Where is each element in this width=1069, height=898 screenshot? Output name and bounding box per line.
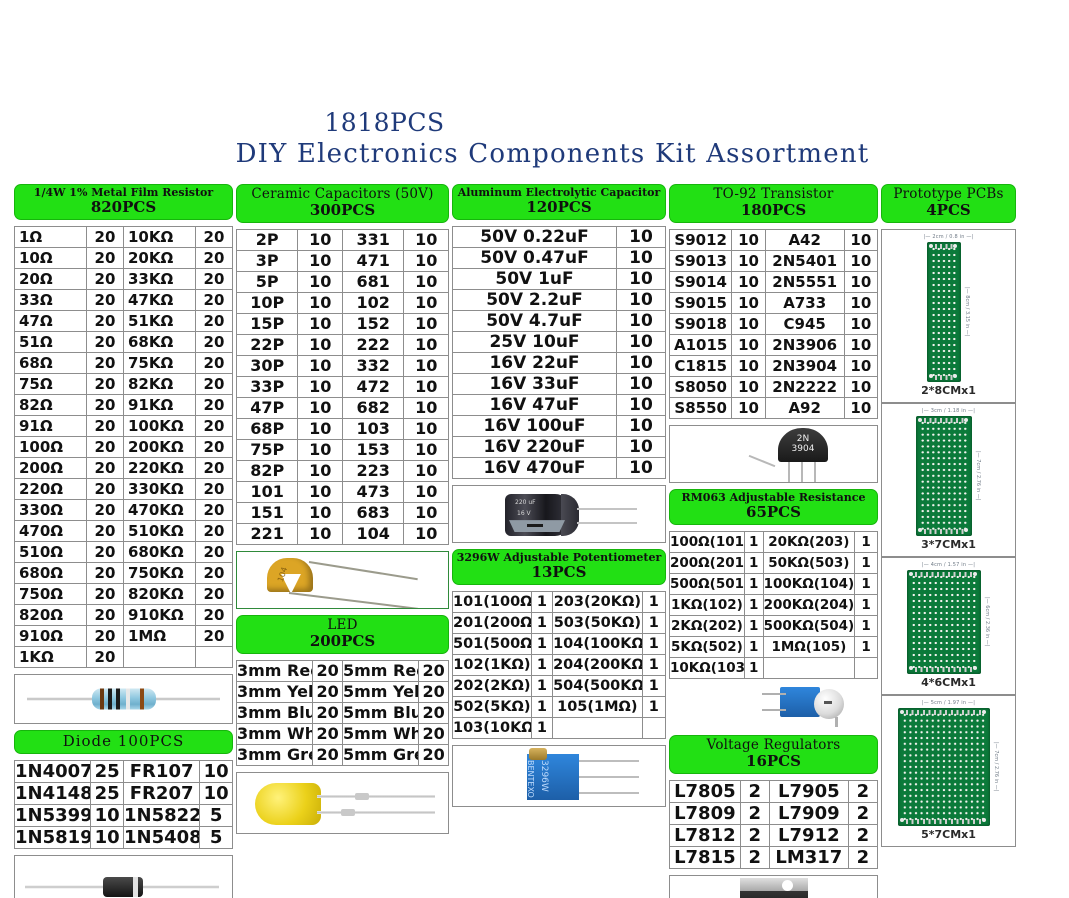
table-cell: 10 (298, 250, 343, 271)
pcb-edge-pads (935, 244, 953, 249)
table-cell: 10 (404, 355, 449, 376)
table-cell: 1 (744, 574, 763, 595)
table-cell: 20 (195, 269, 232, 290)
table-cell: 510KΩ (123, 521, 195, 542)
table-cell: 10 (732, 376, 765, 397)
table-row: 2P1033110 (237, 229, 449, 250)
table-cell: 20 (86, 521, 123, 542)
table-cell: 2 (848, 780, 877, 802)
table-row: S8050102N222210 (670, 376, 878, 397)
table-cell: 100KΩ (123, 416, 195, 437)
table-cell: 20 (86, 269, 123, 290)
table-row: 2KΩ(202)1500KΩ(504)1 (670, 616, 878, 637)
table-cell: 2 (848, 802, 877, 824)
table-cell: 50V 1uF (453, 269, 617, 290)
pcb-edge-pads (915, 667, 973, 672)
table-cell (553, 718, 642, 739)
diode-heading: Diode 100PCS (17, 733, 230, 750)
table-cell: 20 (86, 311, 123, 332)
table-cell: 470KΩ (123, 500, 195, 521)
table-cell: 502(5KΩ) (453, 697, 532, 718)
table-row: 16V 100uF10 (453, 416, 666, 437)
table-row: 501(500Ω)1104(100KΩ)1 (453, 634, 666, 655)
table-row: 1N5399101N58225 (15, 804, 233, 826)
table-cell: 1N5399 (15, 804, 91, 826)
table-row: 3mm White205mm White20 (237, 723, 449, 744)
table-row: 3mm Yellow205mm Yellow20 (237, 681, 449, 702)
transistor-table: S901210A4210S9013102N540110S9014102N5551… (669, 229, 878, 419)
table-cell: 20 (419, 744, 449, 765)
pcb-mounting-hole (918, 418, 922, 422)
table-cell: 2N3904 (765, 355, 844, 376)
table-cell: 50V 2.2uF (453, 290, 617, 311)
table-cell: 3mm White (237, 723, 313, 744)
table-cell: 5mm Blue (342, 702, 418, 723)
transistor-table-body: S901210A4210S9013102N540110S9014102N5551… (670, 229, 878, 418)
table-cell: 750KΩ (123, 563, 195, 584)
table-cell: 1 (531, 613, 552, 634)
table-cell: 330KΩ (123, 479, 195, 500)
table-cell: 1 (744, 595, 763, 616)
table-cell: 20 (86, 500, 123, 521)
table-cell: 20 (313, 702, 343, 723)
led-count: 200PCS (239, 633, 446, 650)
pcb-edge-pads (924, 529, 964, 534)
pcb-mounting-hole (953, 374, 957, 378)
table-cell: 103(10KΩ) (453, 718, 532, 739)
table-row: 68Ω2075KΩ20 (15, 353, 233, 374)
table-cell: 151 (237, 502, 298, 523)
pcb-height-dimension: |— 7cm / 2.76 in —| (975, 451, 981, 501)
table-cell: 10 (732, 313, 765, 334)
table-row: 1KΩ(102)1200KΩ(204)1 (670, 595, 878, 616)
table-cell: 1 (642, 676, 665, 697)
table-row: 101(100Ω)1203(20KΩ)1 (453, 592, 666, 613)
pcb-mounting-hole (973, 572, 977, 576)
table-cell: 5KΩ(502) (670, 637, 745, 658)
table-cell: S8550 (670, 397, 732, 418)
table-cell: 10 (617, 290, 666, 311)
table-cell: 10 (617, 269, 666, 290)
table-cell: 82KΩ (123, 374, 195, 395)
pcb-edge-pads (906, 819, 982, 824)
table-cell: 103 (342, 418, 403, 439)
table-cell: 10 (298, 271, 343, 292)
sections-grid: 1/4W 1% Metal Film Resistor 820PCS 1Ω201… (14, 184, 1056, 898)
table-cell: 1 (855, 637, 878, 658)
table-cell: 2 (740, 846, 769, 868)
led-photo (236, 772, 449, 834)
table-cell: 75P (237, 439, 298, 460)
pcb-mounting-hole (964, 528, 968, 532)
table-cell: 20 (86, 290, 123, 311)
pcb-board (916, 416, 972, 536)
table-cell: 33KΩ (123, 269, 195, 290)
table-cell: 10 (298, 460, 343, 481)
table-cell: 201(200Ω) (453, 613, 532, 634)
table-row: 5KΩ(502)11MΩ(105)1 (670, 637, 878, 658)
table-cell: 1MΩ(105) (763, 637, 855, 658)
table-cell: 20 (313, 744, 343, 765)
table-cell: 20 (86, 353, 123, 374)
table-cell: 1 (744, 637, 763, 658)
section-header-potentiometer: 3296W Adjustable Potentiometer 13PCS (452, 549, 666, 585)
table-cell: 10P (237, 292, 298, 313)
pcb-board-item: |— 4cm / 1.57 in —||— 6cm / 2.36 in —|4*… (881, 557, 1016, 695)
table-cell: 10 (404, 376, 449, 397)
table-cell: 10KΩ (123, 227, 195, 248)
table-cell: 10 (617, 416, 666, 437)
table-cell: S9018 (670, 313, 732, 334)
transistor-count: 180PCS (672, 202, 875, 219)
pcb-mounting-hole (909, 572, 913, 576)
table-cell: 10 (298, 397, 343, 418)
table-row: 16V 470uF10 (453, 458, 666, 479)
table-cell: 200KΩ (123, 437, 195, 458)
table-row: 47Ω2051KΩ20 (15, 311, 233, 332)
table-row: S9013102N540110 (670, 250, 878, 271)
table-cell (123, 647, 195, 668)
table-cell: 5mm Yellow (342, 681, 418, 702)
table-cell: 470Ω (15, 521, 87, 542)
table-cell: 3mm Green (237, 744, 313, 765)
table-cell: 30P (237, 355, 298, 376)
table-row: 1N400725FR10710 (15, 760, 233, 782)
table-cell: 681 (342, 271, 403, 292)
table-row: 680Ω20750KΩ20 (15, 563, 233, 584)
table-cell: A1015 (670, 334, 732, 355)
section-header-transistor: TO-92 Transistor 180PCS (669, 184, 878, 223)
section-header-ceramic: Ceramic Capacitors (50V) 300PCS (236, 184, 449, 223)
table-row: 10KΩ(103)1 (670, 658, 878, 679)
table-row: 910Ω201MΩ20 (15, 626, 233, 647)
table-cell: 20Ω (15, 269, 87, 290)
table-cell: 1MΩ (123, 626, 195, 647)
table-cell: 20 (86, 542, 123, 563)
table-row: 3mm Blue205mm Blue20 (237, 702, 449, 723)
table-cell: 15P (237, 313, 298, 334)
table-cell: 501(500Ω) (453, 634, 532, 655)
section-header-pcb: Prototype PCBs 4PCS (881, 184, 1016, 223)
table-cell: 10 (91, 826, 124, 848)
table-row: A1015102N390610 (670, 334, 878, 355)
table-cell: 10 (404, 418, 449, 439)
table-cell: 10 (404, 250, 449, 271)
table-cell: 91KΩ (123, 395, 195, 416)
table-cell: 47P (237, 397, 298, 418)
table-cell: 20 (86, 626, 123, 647)
table-cell: 1N5408 (123, 826, 199, 848)
table-cell: 152 (342, 313, 403, 334)
table-cell: L7809 (670, 802, 741, 824)
table-row: 1N5819101N54085 (15, 826, 233, 848)
table-cell: 20 (86, 248, 123, 269)
pcb-board (898, 708, 990, 826)
table-cell: 1 (531, 655, 552, 676)
table-cell: 10 (404, 229, 449, 250)
regulator-table: L78052L79052L78092L79092L78122L79122L781… (669, 780, 878, 869)
table-cell: 10 (732, 355, 765, 376)
column-ceramic-led: Ceramic Capacitors (50V) 300PCS 2P103311… (236, 184, 449, 834)
table-cell: 1 (642, 613, 665, 634)
table-row: 68P1010310 (237, 418, 449, 439)
table-row: 3mm Green205mm Green20 (237, 744, 449, 765)
table-row: 1KΩ20 (15, 647, 233, 668)
table-cell: 20 (195, 584, 232, 605)
table-cell: 20 (195, 500, 232, 521)
table-cell: S9012 (670, 229, 732, 250)
table-cell: 10Ω (15, 248, 87, 269)
table-cell: 1 (642, 697, 665, 718)
table-cell: 10 (298, 481, 343, 502)
led-table-body: 3mm Red205mm Red203mm Yellow205mm Yellow… (237, 660, 449, 765)
table-cell: 2 (848, 824, 877, 846)
table-cell: 202(2KΩ) (453, 676, 532, 697)
table-cell: A733 (765, 292, 844, 313)
table-cell: 200KΩ(204) (763, 595, 855, 616)
table-cell: 10 (404, 460, 449, 481)
ceramic-table-body: 2P10331103P10471105P106811010P101021015P… (237, 229, 449, 544)
table-cell: 10 (617, 458, 666, 479)
table-cell: S9014 (670, 271, 732, 292)
table-cell: 47KΩ (123, 290, 195, 311)
capacitor-value-text: 220 uF (515, 499, 536, 506)
pcb-mounting-hole (929, 244, 933, 248)
pcb-edge-pads (915, 572, 973, 577)
pcb-mounting-hole (900, 818, 904, 822)
table-row: L78092L79092 (670, 802, 878, 824)
table-cell: 10 (844, 250, 877, 271)
table-cell: 16V 220uF (453, 437, 617, 458)
table-cell: C1815 (670, 355, 732, 376)
rm063-table-body: 100Ω(101)120KΩ(203)1200Ω(201)150KΩ(503)1… (670, 532, 878, 679)
table-cell: 910Ω (15, 626, 87, 647)
aluminum-table: 50V 0.22uF1050V 0.47uF1050V 1uF1050V 2.2… (452, 226, 666, 479)
table-cell: 1 (855, 574, 878, 595)
table-cell: 3mm Red (237, 660, 313, 681)
table-row: 510Ω20680KΩ20 (15, 542, 233, 563)
table-cell: 104 (342, 523, 403, 544)
table-cell: 16V 22uF (453, 353, 617, 374)
table-row: 500Ω(501)1100KΩ(104)1 (670, 574, 878, 595)
table-row: 91Ω20100KΩ20 (15, 416, 233, 437)
table-cell: 10 (404, 397, 449, 418)
table-cell: A42 (765, 229, 844, 250)
pcb-board (927, 242, 961, 382)
table-cell: 1 (855, 595, 878, 616)
pcb-mounting-hole (982, 818, 986, 822)
table-cell: 10 (298, 355, 343, 376)
table-cell: 2N5551 (765, 271, 844, 292)
table-row: 50V 0.47uF10 (453, 248, 666, 269)
table-cell: 1N5822 (123, 804, 199, 826)
table-row: 102(1KΩ)1204(200KΩ)1 (453, 655, 666, 676)
table-cell: 5mm White (342, 723, 418, 744)
table-cell: 20 (195, 605, 232, 626)
table-cell: 10 (91, 804, 124, 826)
to92-transistor-photo: 2N 3904 (669, 425, 878, 483)
table-row: 75P1015310 (237, 439, 449, 460)
table-cell: 221 (237, 523, 298, 544)
table-cell: 220KΩ (123, 458, 195, 479)
resistor-table: 1Ω2010KΩ2010Ω2020KΩ2020Ω2033KΩ2033Ω2047K… (14, 226, 233, 668)
table-cell: 2 (740, 802, 769, 824)
table-cell: 200Ω (15, 458, 87, 479)
pcb-size-label: 3*7CMx1 (921, 538, 976, 551)
table-cell: C945 (765, 313, 844, 334)
table-row: 1Ω2010KΩ20 (15, 227, 233, 248)
table-cell: 820Ω (15, 605, 87, 626)
resistor-body (92, 689, 156, 710)
table-cell (763, 658, 855, 679)
table-cell: 20 (313, 681, 343, 702)
table-cell: 10 (617, 332, 666, 353)
table-cell: 10 (732, 397, 765, 418)
table-cell: 10 (844, 397, 877, 418)
table-cell: 20 (86, 479, 123, 500)
table-cell: 222 (342, 334, 403, 355)
table-cell: 20 (195, 563, 232, 584)
table-cell: 20KΩ (123, 248, 195, 269)
table-cell: 51Ω (15, 332, 87, 353)
table-row: 50V 2.2uF10 (453, 290, 666, 311)
pcb-height-dimension: |— 7cm / 2.76 in —| (993, 742, 999, 792)
table-cell: 820KΩ (123, 584, 195, 605)
pcb-board-item: |— 2cm / 0.8 in —||— 8cm / 3.15 in —|2*8… (881, 229, 1016, 403)
table-cell: 100KΩ(104) (763, 574, 855, 595)
table-cell: 500KΩ(504) (763, 616, 855, 637)
electrolytic-capacitor-photo: 220 uF 16 V (452, 485, 666, 543)
table-cell: 203(20KΩ) (553, 592, 642, 613)
table-row: 1511068310 (237, 502, 449, 523)
table-row: 47P1068210 (237, 397, 449, 418)
table-cell: 20 (86, 227, 123, 248)
regulator-table-body: L78052L79052L78092L79092L78122L79122L781… (670, 780, 878, 868)
table-cell: 22P (237, 334, 298, 355)
pcb-height-dimension: |— 6cm / 2.36 in —| (984, 597, 990, 647)
led-dome (255, 783, 321, 825)
diode-table-body: 1N400725FR107101N414825FR207101N5399101N… (15, 760, 233, 848)
table-cell: 50KΩ(503) (763, 553, 855, 574)
table-cell: 750Ω (15, 584, 87, 605)
table-cell: 75Ω (15, 374, 87, 395)
table-cell: 1 (855, 532, 878, 553)
table-cell: 10 (617, 374, 666, 395)
section-header-diode: Diode 100PCS (14, 730, 233, 754)
table-cell: 20 (86, 647, 123, 668)
table-row: 16V 47uF10 (453, 395, 666, 416)
table-cell: 472 (342, 376, 403, 397)
ceramic-capacitor-photo: 104 (236, 551, 449, 609)
regulator-heading: Voltage Regulators (672, 738, 875, 753)
table-row: 5P1068110 (237, 271, 449, 292)
table-cell: 10 (844, 292, 877, 313)
table-cell: 471 (342, 250, 403, 271)
pcb-height-dimension: |— 8cm / 3.15 in —| (964, 287, 970, 337)
table-cell: 91Ω (15, 416, 87, 437)
aluminum-table-body: 50V 0.22uF1050V 0.47uF1050V 1uF1050V 2.2… (453, 227, 666, 479)
table-cell: 10 (404, 523, 449, 544)
table-cell: 331 (342, 229, 403, 250)
table-cell: 20 (195, 395, 232, 416)
table-row: S901510A73310 (670, 292, 878, 313)
table-cell: 10 (844, 229, 877, 250)
pcb-size-label: 4*6CMx1 (921, 676, 976, 689)
table-cell: 10 (200, 760, 233, 782)
table-cell: S8050 (670, 376, 732, 397)
table-cell: 82Ω (15, 395, 87, 416)
table-cell: 10 (404, 439, 449, 460)
table-row: S855010A9210 (670, 397, 878, 418)
table-cell: 10 (298, 418, 343, 439)
table-cell: L7912 (769, 824, 848, 846)
table-row: 502(5KΩ)1105(1MΩ)1 (453, 697, 666, 718)
table-cell: 10 (844, 376, 877, 397)
table-cell: 100Ω(101) (670, 532, 745, 553)
table-cell: 1 (531, 592, 552, 613)
led-table: 3mm Red205mm Red203mm Yellow205mm Yellow… (236, 660, 449, 766)
table-cell: 104(100KΩ) (553, 634, 642, 655)
table-cell: 10 (404, 502, 449, 523)
pcb-mounting-hole (953, 244, 957, 248)
table-cell: 20 (195, 437, 232, 458)
table-cell: 1 (744, 553, 763, 574)
table-cell: 10 (732, 250, 765, 271)
table-cell: 75KΩ (123, 353, 195, 374)
table-row: 201(200Ω)1503(50KΩ)1 (453, 613, 666, 634)
table-cell: 10 (298, 502, 343, 523)
table-cell: 16V 100uF (453, 416, 617, 437)
pcb-count: 4PCS (884, 202, 1013, 219)
rm063-count: 65PCS (672, 504, 875, 521)
rm063-table: 100Ω(101)120KΩ(203)1200Ω(201)150KΩ(503)1… (669, 531, 878, 679)
table-cell: 20 (86, 563, 123, 584)
table-cell: 153 (342, 439, 403, 460)
table-cell: 20 (86, 605, 123, 626)
table-cell: 330Ω (15, 500, 87, 521)
column-pcbs: Prototype PCBs 4PCS |— 2cm / 0.8 in —||—… (881, 184, 1016, 847)
table-cell: 1 (744, 532, 763, 553)
table-cell: 2 (740, 780, 769, 802)
table-cell: 16V 470uF (453, 458, 617, 479)
table-cell: 1Ω (15, 227, 87, 248)
table-cell: 20 (86, 458, 123, 479)
table-cell: 10 (404, 313, 449, 334)
pcb-size-label: 2*8CMx1 (921, 384, 976, 397)
table-cell: 3mm Blue (237, 702, 313, 723)
table-cell: 68KΩ (123, 332, 195, 353)
title-total-count: 1818PCS (0, 108, 1069, 138)
transistor-label-line1: 2N (797, 434, 809, 444)
transistor-heading: TO-92 Transistor (672, 187, 875, 202)
table-cell: L7812 (670, 824, 741, 846)
transistor-label-line2: 3904 (792, 444, 815, 454)
table-cell: 2P (237, 229, 298, 250)
table-cell: 20 (195, 374, 232, 395)
table-cell: 10 (404, 271, 449, 292)
potentiometer-count: 13PCS (455, 564, 663, 581)
table-cell: 10 (732, 271, 765, 292)
aluminum-count: 120PCS (455, 199, 663, 216)
table-row: 2211010410 (237, 523, 449, 544)
table-cell: L7805 (670, 780, 741, 802)
table-cell: 1KΩ (15, 647, 87, 668)
pcb-size-label: 5*7CMx1 (921, 828, 976, 841)
table-cell: S9013 (670, 250, 732, 271)
table-cell: L7815 (670, 846, 741, 868)
table-cell: 3mm Yellow (237, 681, 313, 702)
table-cell: 680Ω (15, 563, 87, 584)
